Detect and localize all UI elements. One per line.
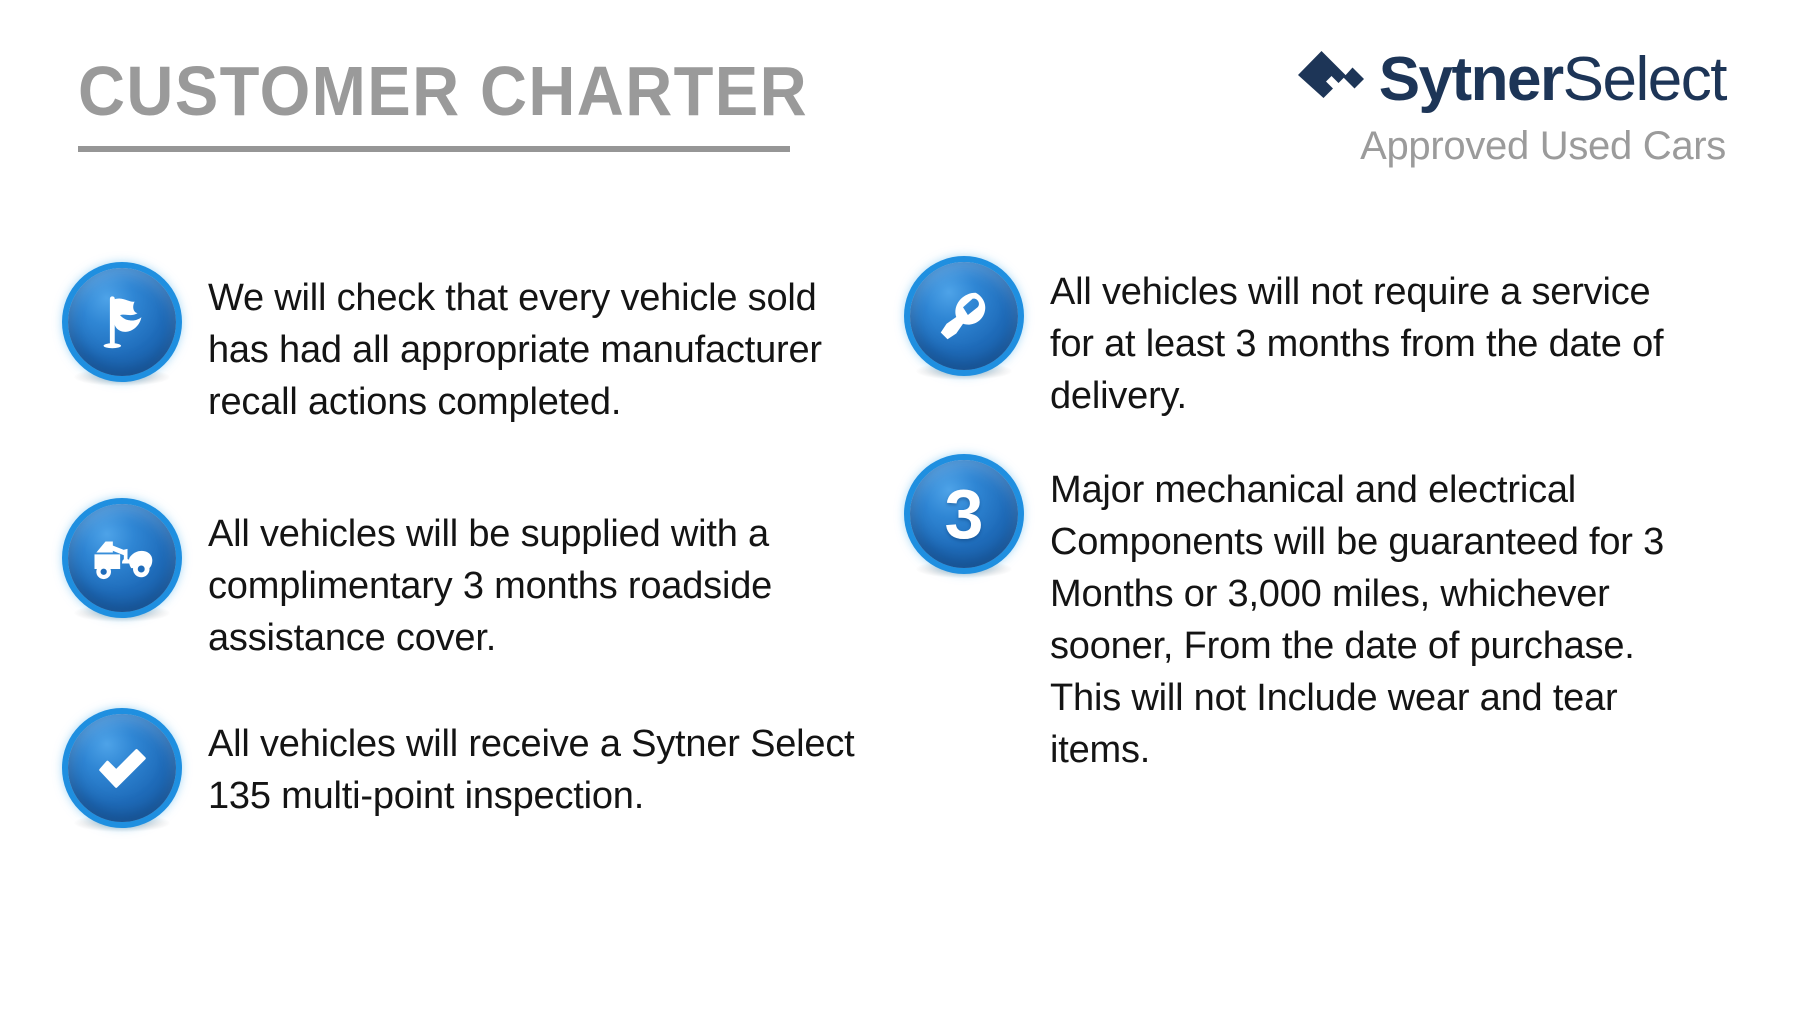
title-block: CUSTOMER CHARTER <box>78 52 898 152</box>
title-divider <box>78 146 790 152</box>
wrench-icon <box>910 262 1018 370</box>
icon-container: 3 <box>910 460 1018 568</box>
slide-header: CUSTOMER CHARTER SytnerSelect Approved U… <box>0 0 1800 200</box>
charter-item-text: All vehicles will be supplied with a com… <box>208 504 868 664</box>
charter-item: 3 Major mechanical and electrical Compon… <box>910 460 1700 776</box>
charter-item: We will check that every vehicle sold ha… <box>68 268 868 428</box>
logo-word-sytner: Sytner <box>1379 45 1563 114</box>
charter-items: We will check that every vehicle sold ha… <box>0 252 1800 952</box>
check-mark-icon <box>68 714 176 822</box>
charter-item: All vehicles will not require a service … <box>910 262 1700 422</box>
logo-word-select: Select <box>1563 45 1726 114</box>
icon-container <box>68 268 176 376</box>
icon-container <box>68 504 176 612</box>
icon-container <box>910 262 1018 370</box>
charter-item-text: All vehicles will not require a service … <box>1050 262 1690 422</box>
charter-item-text: All vehicles will receive a Sytner Selec… <box>208 714 868 822</box>
charter-item-text: We will check that every vehicle sold ha… <box>208 268 848 428</box>
logo-wordmark: SytnerSelect <box>1379 49 1726 111</box>
icon-container <box>68 714 176 822</box>
number-three-icon: 3 <box>910 460 1018 568</box>
badge-numeral: 3 <box>945 479 984 549</box>
brand-logo: SytnerSelect Approved Used Cars <box>1256 44 1726 170</box>
charter-item: All vehicles will be supplied with a com… <box>68 504 868 664</box>
charter-item-text: Major mechanical and electrical Componen… <box>1050 460 1690 776</box>
sytner-diamond-icon <box>1295 49 1369 111</box>
page-title: CUSTOMER CHARTER <box>78 52 841 130</box>
customer-charter-slide: CUSTOMER CHARTER SytnerSelect Approved U… <box>0 0 1800 1012</box>
flag-icon <box>68 268 176 376</box>
logo-lockup: SytnerSelect <box>1256 44 1726 116</box>
tow-truck-icon <box>68 504 176 612</box>
logo-tagline: Approved Used Cars <box>1256 116 1726 170</box>
charter-item: All vehicles will receive a Sytner Selec… <box>68 714 868 822</box>
